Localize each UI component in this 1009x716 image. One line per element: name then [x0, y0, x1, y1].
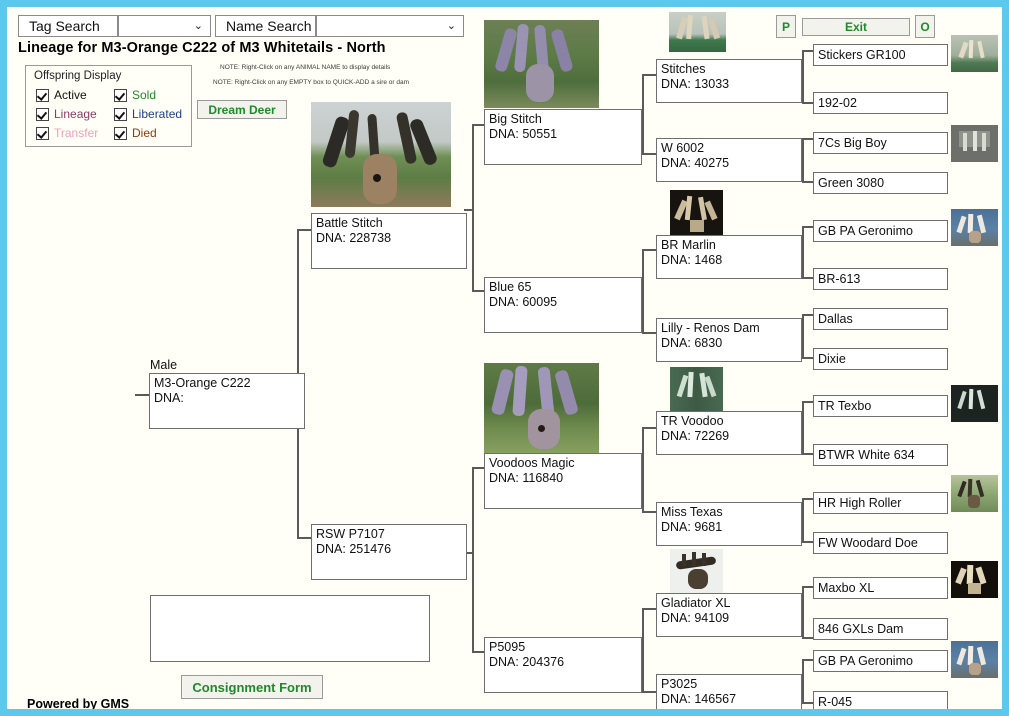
node-dna: DNA: 13033	[661, 77, 729, 91]
checkbox-icon[interactable]	[36, 127, 49, 140]
node-dna: DNA: 50551	[489, 127, 557, 141]
node-dna: DNA: 146567	[661, 692, 736, 706]
photo-hr-high-roller[interactable]	[951, 475, 998, 512]
node-gb-pa-geronimo[interactable]: GB PA Geronimo	[813, 220, 948, 242]
connector	[802, 453, 813, 455]
connector	[802, 498, 804, 542]
checkbox-label: Active	[54, 88, 87, 102]
connector	[802, 659, 804, 703]
node-dna: DNA: 40275	[661, 156, 729, 170]
node-maxbo-xl[interactable]: Maxbo XL	[813, 577, 948, 599]
node-tr-voodoo[interactable]: TR Voodoo DNA: 72269	[656, 411, 802, 455]
node-dallas[interactable]: Dallas	[813, 308, 948, 330]
consignment-form-button[interactable]: Consignment Form	[181, 675, 323, 699]
node-p3025[interactable]: P3025 DNA: 146567	[656, 674, 802, 709]
chevron-down-icon: ⌄	[194, 21, 203, 32]
checkbox-active[interactable]: Active	[36, 88, 87, 102]
node-btwr-white-634[interactable]: BTWR White 634	[813, 444, 948, 466]
photo-tr-texbo[interactable]	[951, 385, 998, 422]
connector	[802, 102, 813, 104]
node-name: HR High Roller	[818, 496, 901, 510]
connector	[642, 427, 656, 429]
node-name: TR Voodoo	[661, 414, 724, 428]
node-name: TR Texbo	[818, 399, 871, 413]
node-dna: DNA: 228738	[316, 231, 391, 245]
node-name: Stitches	[661, 62, 705, 76]
checkbox-lineage[interactable]: Lineage	[36, 107, 97, 121]
node-name: 192-02	[818, 96, 857, 110]
connector	[642, 332, 656, 334]
node-lilly-renos-dam[interactable]: Lilly - Renos Dam DNA: 6830	[656, 318, 802, 362]
connector	[802, 226, 813, 228]
checkbox-label: Died	[132, 126, 157, 140]
node-name: Battle Stitch	[316, 216, 383, 230]
node-blue-65[interactable]: Blue 65 DNA: 60095	[484, 277, 642, 333]
node-name: M3-Orange C222	[154, 376, 251, 390]
node-name: BR Marlin	[661, 238, 716, 252]
connector	[802, 226, 804, 278]
photo-maxbo-xl[interactable]	[951, 561, 998, 598]
node-192-02[interactable]: 192-02	[813, 92, 948, 114]
name-search-label: Name Search	[215, 15, 316, 37]
connector	[642, 511, 656, 513]
connector	[802, 138, 804, 182]
node-name: Green 3080	[818, 176, 884, 190]
node-stickers-gr100[interactable]: Stickers GR100	[813, 44, 948, 66]
node-subject[interactable]: M3-Orange C222 DNA:	[149, 373, 305, 429]
node-dna: DNA: 9681	[661, 520, 722, 534]
photo-voodoos-magic[interactable]	[484, 363, 599, 453]
photo-big-stitch[interactable]	[484, 20, 599, 108]
node-name: P3025	[661, 677, 697, 691]
node-dna: DNA: 116840	[489, 471, 563, 485]
node-name: Stickers GR100	[818, 48, 906, 62]
connector	[472, 124, 474, 290]
node-empty-offspring[interactable]	[150, 595, 430, 662]
connector	[802, 314, 813, 316]
checkbox-icon[interactable]	[36, 89, 49, 102]
connector	[642, 691, 656, 693]
connector	[135, 394, 149, 396]
connector	[642, 608, 656, 610]
node-dna: DNA: 251476	[316, 542, 391, 556]
connector	[802, 586, 813, 588]
node-name: BR-613	[818, 272, 860, 286]
node-name: Blue 65	[489, 280, 531, 294]
connector	[802, 357, 813, 359]
node-br-marlin[interactable]: BR Marlin DNA: 1468	[656, 235, 802, 279]
node-stitches[interactable]: Stitches DNA: 13033	[656, 59, 802, 103]
node-p5095[interactable]: P5095 DNA: 204376	[484, 637, 642, 693]
node-name: Dallas	[818, 312, 853, 326]
connector	[802, 314, 804, 358]
connector	[802, 50, 804, 103]
tag-search-select[interactable]: ⌄	[118, 15, 211, 37]
checkbox-liberated[interactable]: Liberated	[114, 107, 182, 121]
node-voodoos-magic[interactable]: Voodoos Magic DNA: 116840	[484, 453, 642, 509]
checkbox-label: Transfer	[54, 126, 98, 140]
checkbox-icon[interactable]	[114, 127, 127, 140]
connector	[802, 637, 813, 639]
node-dna: DNA: 204376	[489, 655, 564, 669]
node-dna: DNA:	[154, 391, 184, 405]
node-name: FW Woodard Doe	[818, 536, 918, 550]
photo-gb-pa-geronimo-2[interactable]	[951, 641, 998, 678]
node-fw-woodard-doe[interactable]: FW Woodard Doe	[813, 532, 948, 554]
connector	[802, 498, 813, 500]
node-name: P5095	[489, 640, 525, 654]
photo-tr-voodoo[interactable]	[670, 367, 723, 411]
checkbox-transfer[interactable]: Transfer	[36, 126, 98, 140]
connector	[472, 467, 474, 652]
connector	[802, 138, 813, 140]
node-dna: DNA: 94109	[661, 611, 729, 625]
node-r-045[interactable]: R-045	[813, 691, 948, 709]
connector	[642, 74, 656, 76]
connector	[802, 702, 813, 704]
node-battle-stitch[interactable]: Battle Stitch DNA: 228738	[311, 213, 467, 269]
node-name: Dixie	[818, 352, 846, 366]
node-dna: DNA: 6830	[661, 336, 722, 350]
dream-deer-button[interactable]: Dream Deer	[197, 100, 287, 119]
checkbox-icon[interactable]	[36, 108, 49, 121]
node-846-gxls-dam[interactable]: 846 GXLs Dam	[813, 618, 948, 640]
node-name: BTWR White 634	[818, 448, 915, 462]
name-search-select[interactable]: ⌄	[316, 15, 464, 37]
node-name: Lilly - Renos Dam	[661, 321, 760, 335]
checkbox-label: Lineage	[54, 107, 97, 121]
node-name: R-045	[818, 695, 852, 709]
node-7cs-big-boy[interactable]: 7Cs Big Boy	[813, 132, 948, 154]
connector	[297, 229, 299, 395]
node-br-613[interactable]: BR-613	[813, 268, 948, 290]
node-dna: DNA: 1468	[661, 253, 722, 267]
connector	[642, 608, 644, 692]
node-dna: DNA: 60095	[489, 295, 557, 309]
photo-br-marlin[interactable]	[670, 190, 723, 236]
checkbox-label: Liberated	[132, 107, 182, 121]
checkbox-icon[interactable]	[114, 108, 127, 121]
node-name: RSW P7107	[316, 527, 385, 541]
photo-battle-stitch[interactable]	[311, 102, 451, 207]
o-button[interactable]: O	[915, 15, 935, 38]
checkbox-sold[interactable]: Sold	[114, 88, 156, 102]
photo-stitches[interactable]	[669, 12, 726, 52]
connector	[802, 181, 813, 183]
node-name: Voodoos Magic	[489, 456, 574, 470]
powered-by-label: Powered by GMS	[27, 697, 129, 709]
checkbox-died[interactable]: Died	[114, 126, 157, 140]
page-title: Lineage for M3-Orange C222 of M3 Whiteta…	[18, 40, 386, 56]
node-green-3080[interactable]: Green 3080	[813, 172, 948, 194]
node-rsw-p7107[interactable]: RSW P7107 DNA: 251476	[311, 524, 467, 580]
node-hr-high-roller[interactable]: HR High Roller	[813, 492, 948, 514]
gender-label: Male	[150, 358, 177, 372]
node-gb-pa-geronimo-2[interactable]: GB PA Geronimo	[813, 650, 948, 672]
node-name: GB PA Geronimo	[818, 654, 913, 668]
connector	[297, 537, 311, 539]
connector	[802, 401, 813, 403]
node-name: Big Stitch	[489, 112, 542, 126]
node-tr-texbo[interactable]: TR Texbo	[813, 395, 948, 417]
exit-button[interactable]: Exit	[802, 18, 910, 36]
photo-stickers-gr100[interactable]	[951, 35, 998, 72]
node-name: GB PA Geronimo	[818, 224, 913, 238]
node-name: Miss Texas	[661, 505, 723, 519]
node-name: W 6002	[661, 141, 704, 155]
node-name: 7Cs Big Boy	[818, 136, 887, 150]
connector	[802, 586, 804, 638]
connector	[642, 153, 656, 155]
connector	[642, 74, 644, 154]
p-button[interactable]: P	[776, 15, 796, 38]
node-gladiator-xl[interactable]: Gladiator XL DNA: 94109	[656, 593, 802, 637]
node-name: 846 GXLs Dam	[818, 622, 903, 636]
offspring-display-legend: Offspring Display	[34, 70, 121, 82]
photo-gb-pa-geronimo[interactable]	[951, 209, 998, 246]
node-miss-texas[interactable]: Miss Texas DNA: 9681	[656, 502, 802, 546]
chevron-down-icon: ⌄	[447, 21, 456, 32]
photo-gladiator-xl[interactable]	[670, 549, 723, 594]
offspring-display-panel: Offspring Display Active Sold Lineage Li…	[25, 65, 192, 147]
node-dixie[interactable]: Dixie	[813, 348, 948, 370]
connector	[464, 209, 473, 211]
node-big-stitch[interactable]: Big Stitch DNA: 50551	[484, 109, 642, 165]
connector	[642, 249, 656, 251]
connector	[297, 229, 311, 231]
checkbox-label: Sold	[132, 88, 156, 102]
checkbox-icon[interactable]	[114, 89, 127, 102]
connector	[642, 427, 644, 512]
connector	[802, 659, 813, 661]
connector	[802, 541, 813, 543]
connector	[802, 277, 813, 279]
node-name: Gladiator XL	[661, 596, 730, 610]
note-empty-box: NOTE: Right-Click on any EMPTY box to QU…	[213, 79, 409, 86]
node-name: Maxbo XL	[818, 581, 874, 595]
tag-search-label: Tag Search	[18, 15, 118, 37]
note-animal-name: NOTE: Right-Click on any ANIMAL NAME to …	[220, 64, 390, 71]
connector	[802, 50, 813, 52]
photo-7cs-big-boy[interactable]	[951, 125, 998, 162]
node-w-6002[interactable]: W 6002 DNA: 40275	[656, 138, 802, 182]
lineage-page: Tag Search ⌄ Name Search ⌄ Lineage for M…	[7, 7, 1002, 709]
node-dna: DNA: 72269	[661, 429, 729, 443]
